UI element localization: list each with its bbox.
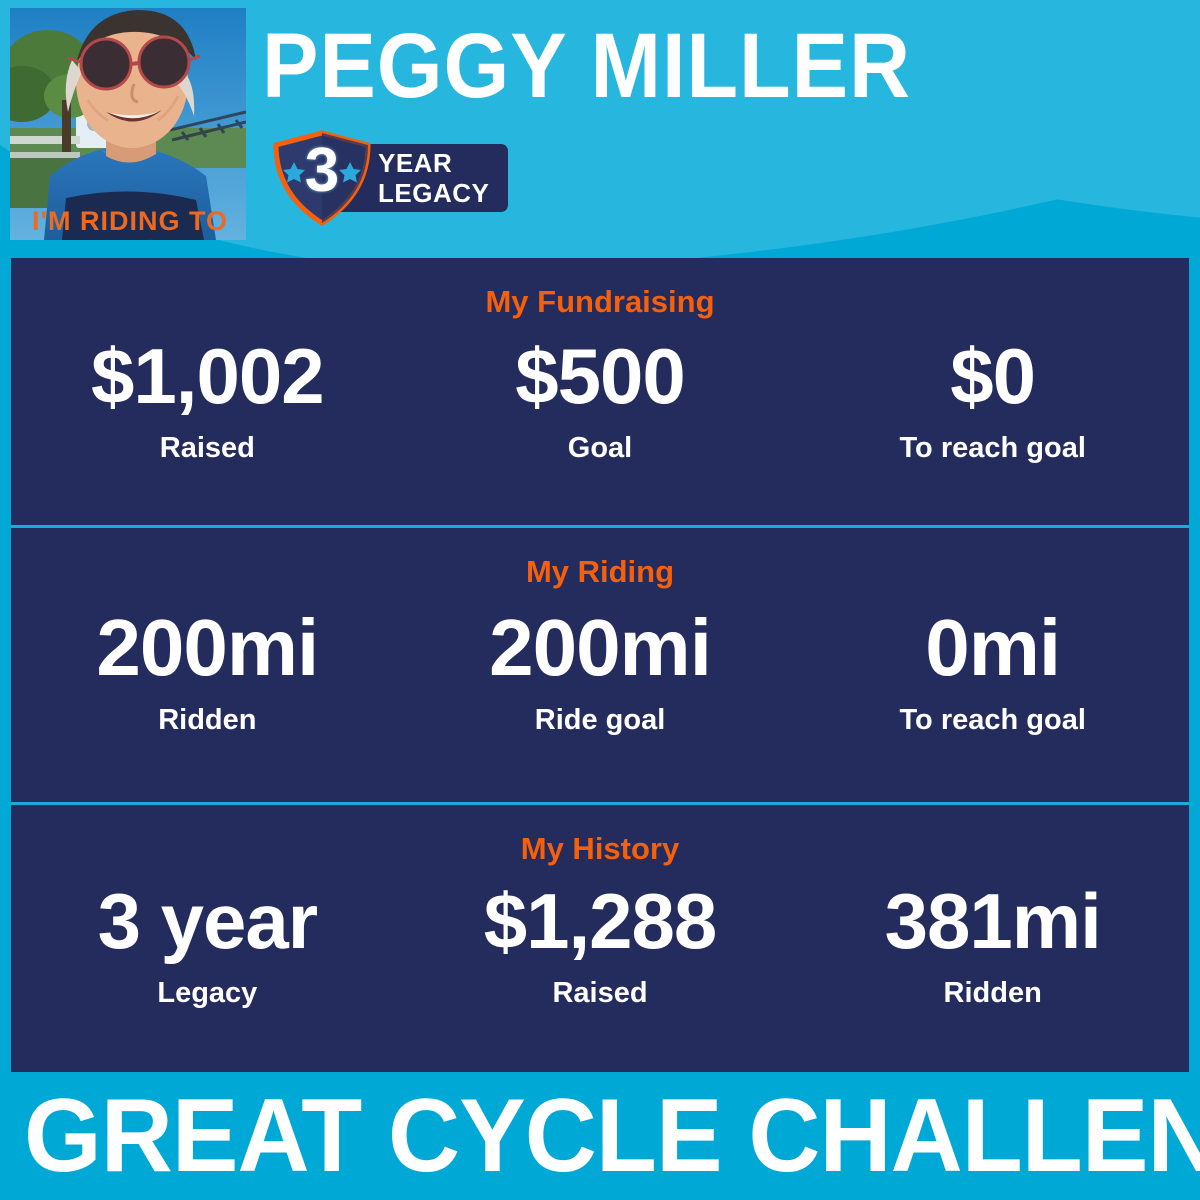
stat-value: 200mi — [15, 602, 400, 694]
stat-ride-goal: 200mi Ride goal — [404, 602, 797, 738]
section-title-history: My History — [11, 831, 1189, 867]
stat-label: Ride goal — [408, 702, 793, 738]
legacy-label: YEAR LEGACY — [378, 148, 508, 208]
participant-name: PEGGY MILLER — [262, 14, 1108, 120]
legacy-years: 3 — [268, 138, 376, 204]
legacy-badge: 3 YEAR LEGACY — [268, 130, 508, 226]
stat-ridden: 200mi Ridden — [11, 602, 404, 738]
stat-lifetime-raised: $1,288 Raised — [404, 875, 797, 1011]
stat-value: $1,002 — [15, 330, 400, 422]
stat-value: 0mi — [800, 602, 1185, 694]
stat-value: 200mi — [408, 602, 793, 694]
stats-row-fundraising: $1,002 Raised $500 Goal $0 To reach goal — [11, 330, 1189, 466]
stat-value: $0 — [800, 330, 1185, 422]
stat-label: To reach goal — [800, 430, 1185, 466]
stat-label: Goal — [408, 430, 793, 466]
brand-title: GREAT CYCLE CHALLENGE — [24, 1080, 1176, 1192]
card-header: I'M RIDING TO — [0, 0, 1200, 258]
svg-text:I'M RIDING TO: I'M RIDING TO — [32, 206, 228, 236]
stat-value: $1,288 — [408, 875, 793, 967]
stat-goal: $500 Goal — [404, 330, 797, 466]
stat-label: Raised — [15, 430, 400, 466]
fundraiser-card: I'M RIDING TO — [0, 0, 1200, 1200]
stats-row-history: 3 year Legacy $1,288 Raised 381mi Ridden — [11, 875, 1189, 1011]
stats-row-riding: 200mi Ridden 200mi Ride goal 0mi To reac… — [11, 602, 1189, 738]
stat-value: 381mi — [800, 875, 1185, 967]
legacy-label-line1: YEAR — [378, 148, 452, 178]
stat-label: To reach goal — [800, 702, 1185, 738]
stat-miles-to-reach-goal: 0mi To reach goal — [796, 602, 1189, 738]
section-title-riding: My Riding — [11, 554, 1189, 590]
stats-panel: My Fundraising $1,002 Raised $500 Goal $… — [11, 258, 1189, 1072]
section-title-fundraising: My Fundraising — [11, 284, 1189, 320]
section-history: My History 3 year Legacy $1,288 Raised 3… — [11, 805, 1189, 1075]
stat-raised: $1,002 Raised — [11, 330, 404, 466]
stat-lifetime-ridden: 381mi Ridden — [796, 875, 1189, 1011]
stat-label: Ridden — [15, 702, 400, 738]
participant-photo: I'M RIDING TO — [10, 8, 246, 240]
stat-value: 3 year — [15, 875, 400, 967]
stat-value: $500 — [408, 330, 793, 422]
stat-label: Ridden — [800, 975, 1185, 1011]
section-fundraising: My Fundraising $1,002 Raised $500 Goal $… — [11, 258, 1189, 525]
legacy-label-line2: LEGACY — [378, 178, 508, 208]
stat-to-reach-goal: $0 To reach goal — [796, 330, 1189, 466]
card-footer: GREAT CYCLE CHALLENGE — [0, 1072, 1200, 1200]
section-riding: My Riding 200mi Ridden 200mi Ride goal 0… — [11, 528, 1189, 802]
stat-legacy: 3 year Legacy — [11, 875, 404, 1011]
stat-label: Legacy — [15, 975, 400, 1011]
stat-label: Raised — [408, 975, 793, 1011]
